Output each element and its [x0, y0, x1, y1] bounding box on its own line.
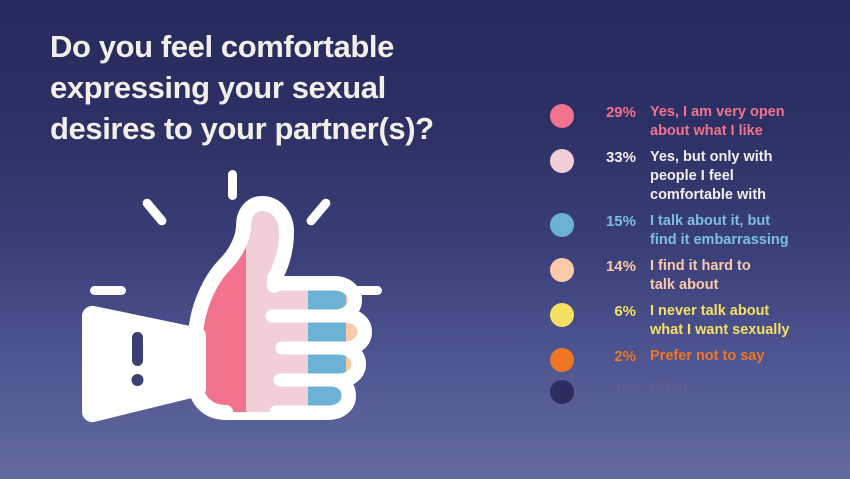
- infographic-canvas: Do you feel comfortable expressing your …: [0, 0, 850, 479]
- title-line-2: expressing your sexual: [50, 67, 520, 108]
- legend-label: Yes, I am very open about what I like: [650, 103, 845, 141]
- legend-item-2[interactable]: 15% I talk about it, but find it embarra…: [550, 212, 845, 250]
- title-line-1: Do you feel comfortable: [50, 26, 520, 67]
- page-title: Do you feel comfortable expressing your …: [50, 26, 520, 150]
- ray-left: [90, 286, 126, 295]
- legend-label: I talk about it, but find it embarrassin…: [650, 212, 845, 250]
- legend-item-4[interactable]: 6% I never talk about what I want sexual…: [550, 302, 845, 340]
- ray-upper-left: [141, 197, 168, 227]
- legend-percent: 1%: [588, 379, 636, 398]
- legend-percent: 33%: [588, 148, 636, 167]
- legend-label: Other: [650, 379, 845, 398]
- legend-percent: 2%: [588, 347, 636, 366]
- legend-item-3[interactable]: 14% I find it hard to talk about: [550, 257, 845, 295]
- legend-dot-icon: [550, 348, 574, 372]
- legend-label: Yes, but only with people I feel comfort…: [650, 148, 845, 205]
- legend-dot-icon: [550, 303, 574, 327]
- ray-upper-right: [305, 197, 332, 227]
- legend-item-1[interactable]: 33% Yes, but only with people I feel com…: [550, 148, 845, 205]
- legend: 29% Yes, I am very open about what I lik…: [550, 103, 845, 411]
- legend-label: I find it hard to talk about: [650, 257, 845, 295]
- ray-top: [228, 170, 237, 200]
- ray-right: [346, 286, 382, 295]
- legend-dot-icon: [550, 380, 574, 404]
- legend-dot-icon: [550, 258, 574, 282]
- legend-percent: 6%: [588, 302, 636, 321]
- thumbs-up-illustration: [76, 160, 396, 470]
- legend-dot-icon: [550, 149, 574, 173]
- band-6: [378, 190, 390, 430]
- legend-item-6[interactable]: 1% Other: [550, 379, 845, 404]
- legend-percent: 14%: [588, 257, 636, 276]
- legend-percent: 15%: [588, 212, 636, 231]
- title-line-3: desires to your partner(s)?: [50, 108, 520, 149]
- legend-percent: 29%: [588, 103, 636, 122]
- exclamation-icon: [132, 332, 144, 386]
- legend-item-5[interactable]: 2% Prefer not to say: [550, 347, 845, 372]
- band-2: [390, 190, 396, 430]
- legend-label: I never talk about what I want sexually: [650, 302, 845, 340]
- legend-dot-icon: [550, 213, 574, 237]
- sleeve-cuff: [82, 306, 206, 422]
- legend-dot-icon: [550, 104, 574, 128]
- legend-item-0[interactable]: 29% Yes, I am very open about what I lik…: [550, 103, 845, 141]
- legend-label: Prefer not to say: [650, 347, 845, 366]
